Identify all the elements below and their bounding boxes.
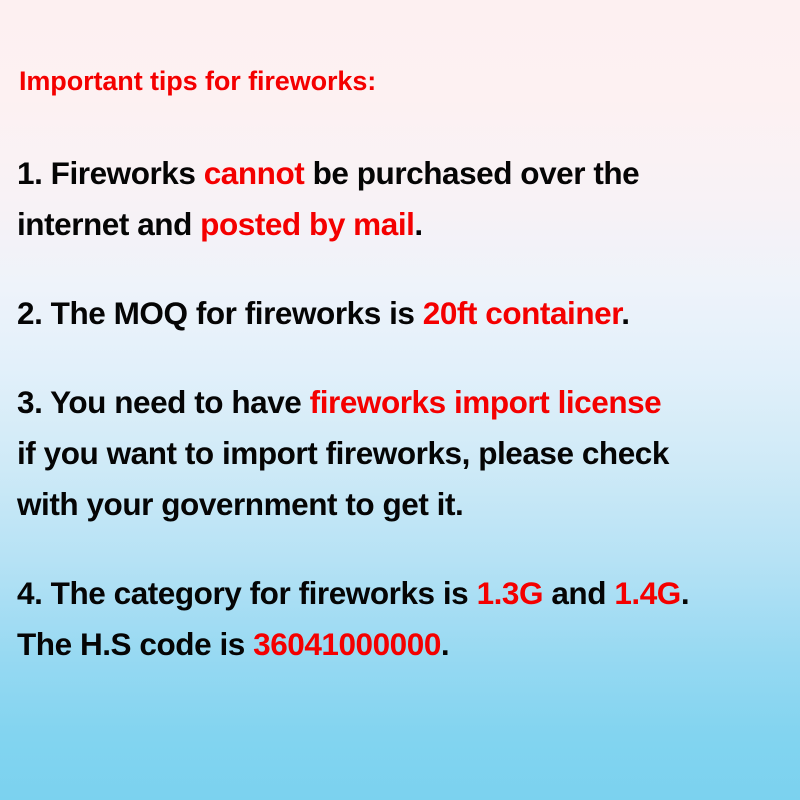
tip-line: 3. You need to have fireworks import lic… (17, 377, 783, 428)
tip-line: internet and posted by mail. (17, 199, 783, 250)
highlighted-text: fireworks import license (310, 384, 662, 420)
plain-text: . (441, 626, 449, 662)
tips-content: Important tips for fireworks: 1. Firewor… (17, 64, 783, 670)
plain-text: if you want to import fireworks, please … (17, 435, 669, 471)
plain-text: . (621, 295, 629, 331)
tip-line: 4. The category for fireworks is 1.3G an… (17, 568, 783, 619)
highlighted-text: 1.4G (614, 575, 681, 611)
highlighted-text: 1.3G (477, 575, 544, 611)
highlighted-text: cannot (204, 155, 305, 191)
plain-text: and (543, 575, 614, 611)
highlighted-text: posted by mail (200, 206, 414, 242)
tip-item-1: 1. Fireworks cannot be purchased over th… (17, 148, 783, 250)
plain-text: 4. The category for fireworks is (17, 575, 477, 611)
tip-item-2: 2. The MOQ for fireworks is 20ft contain… (17, 288, 783, 339)
tip-line: 2. The MOQ for fireworks is 20ft contain… (17, 288, 783, 339)
tip-line: if you want to import fireworks, please … (17, 428, 783, 479)
highlighted-text: 20ft container (423, 295, 622, 331)
highlighted-text: 36041000000 (253, 626, 441, 662)
plain-text: . (681, 575, 689, 611)
plain-text: 1. Fireworks (17, 155, 204, 191)
tip-item-3: 3. You need to have fireworks import lic… (17, 377, 783, 530)
tip-line: with your government to get it. (17, 479, 783, 530)
plain-text: . (414, 206, 422, 242)
plain-text: 3. You need to have (17, 384, 310, 420)
plain-text: The H.S code is (17, 626, 253, 662)
page-title: Important tips for fireworks: (19, 64, 783, 99)
plain-text: with your government to get it. (17, 486, 463, 522)
fireworks-tips-poster: Important tips for fireworks: 1. Firewor… (0, 0, 800, 800)
plain-text: internet and (17, 206, 200, 242)
tip-line: The H.S code is 36041000000. (17, 619, 783, 670)
tip-line: 1. Fireworks cannot be purchased over th… (17, 148, 783, 199)
tip-item-4: 4. The category for fireworks is 1.3G an… (17, 568, 783, 670)
plain-text: be purchased over the (304, 155, 639, 191)
plain-text: 2. The MOQ for fireworks is (17, 295, 423, 331)
